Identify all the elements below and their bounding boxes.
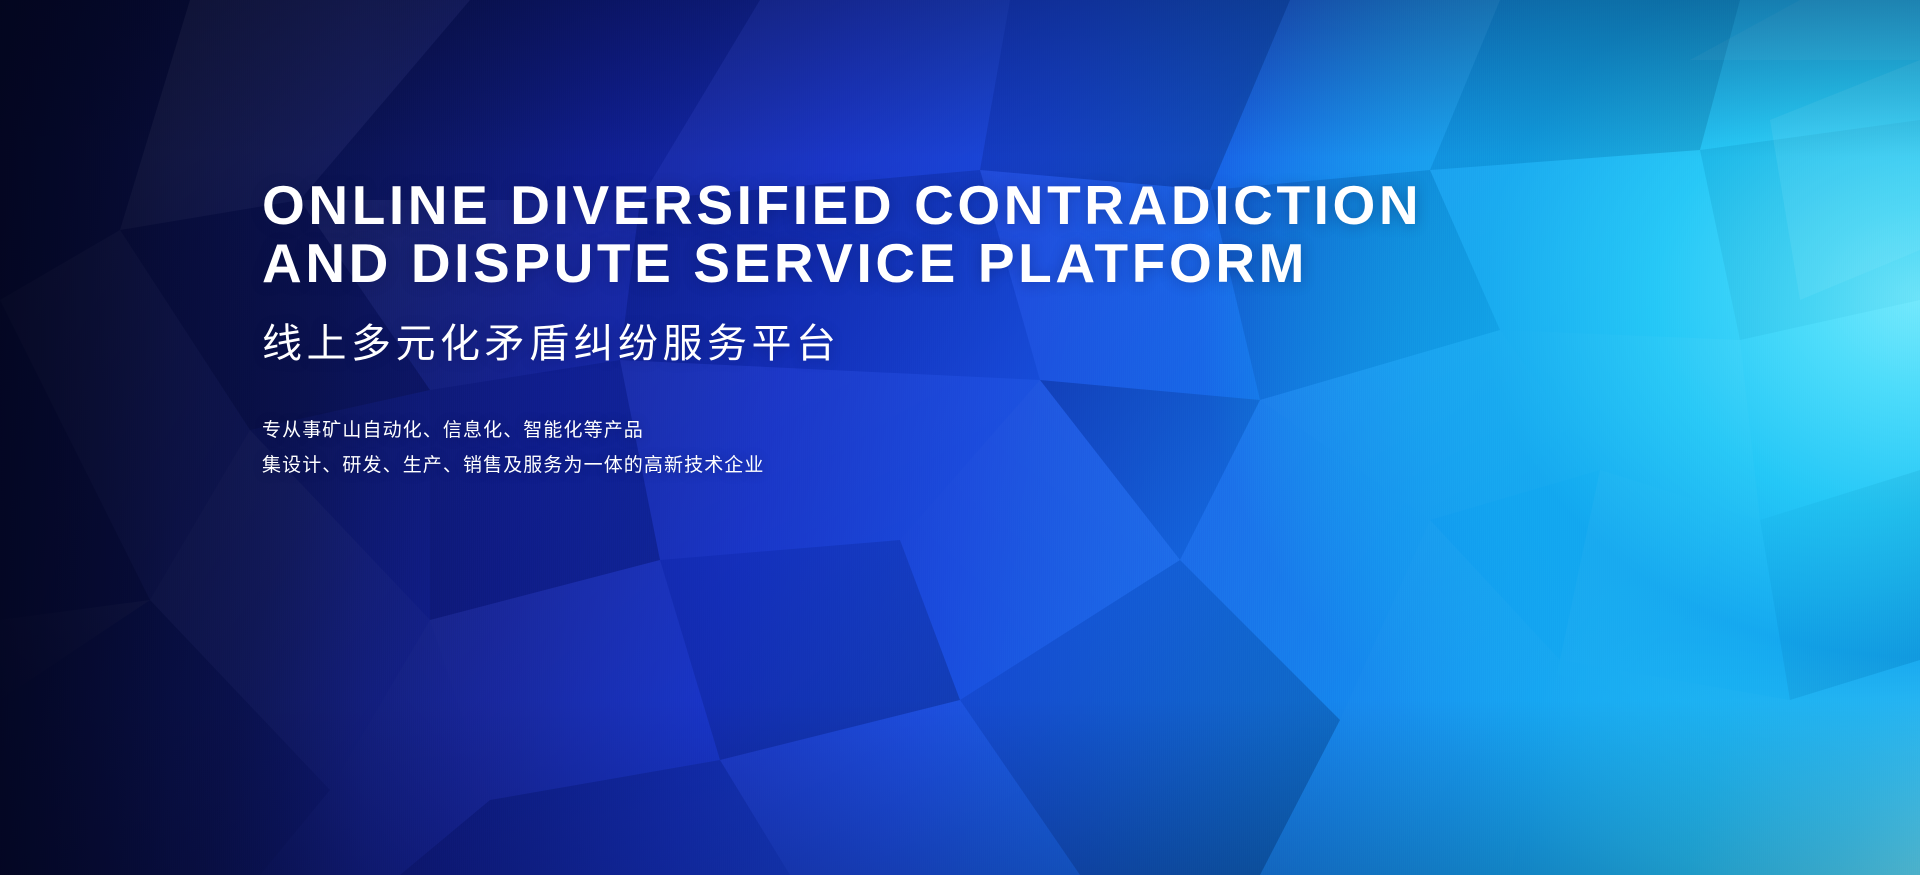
description-line-1: 专从事矿山自动化、信息化、智能化等产品 [262,413,1422,448]
banner-description: 专从事矿山自动化、信息化、智能化等产品 集设计、研发、生产、销售及服务为一体的高… [262,413,1422,483]
banner-headline-en: ONLINE DIVERSIFIED CONTRADICTION AND DIS… [262,176,1422,292]
description-line-2: 集设计、研发、生产、销售及服务为一体的高新技术企业 [262,448,1422,483]
headline-line-1: ONLINE DIVERSIFIED CONTRADICTION [262,176,1422,234]
hero-banner: ONLINE DIVERSIFIED CONTRADICTION AND DIS… [0,0,1920,875]
banner-content: ONLINE DIVERSIFIED CONTRADICTION AND DIS… [262,176,1422,483]
headline-line-2: AND DISPUTE SERVICE PLATFORM [262,234,1422,292]
banner-subtitle-zh: 线上多元化矛盾纠纷服务平台 [262,321,1422,367]
